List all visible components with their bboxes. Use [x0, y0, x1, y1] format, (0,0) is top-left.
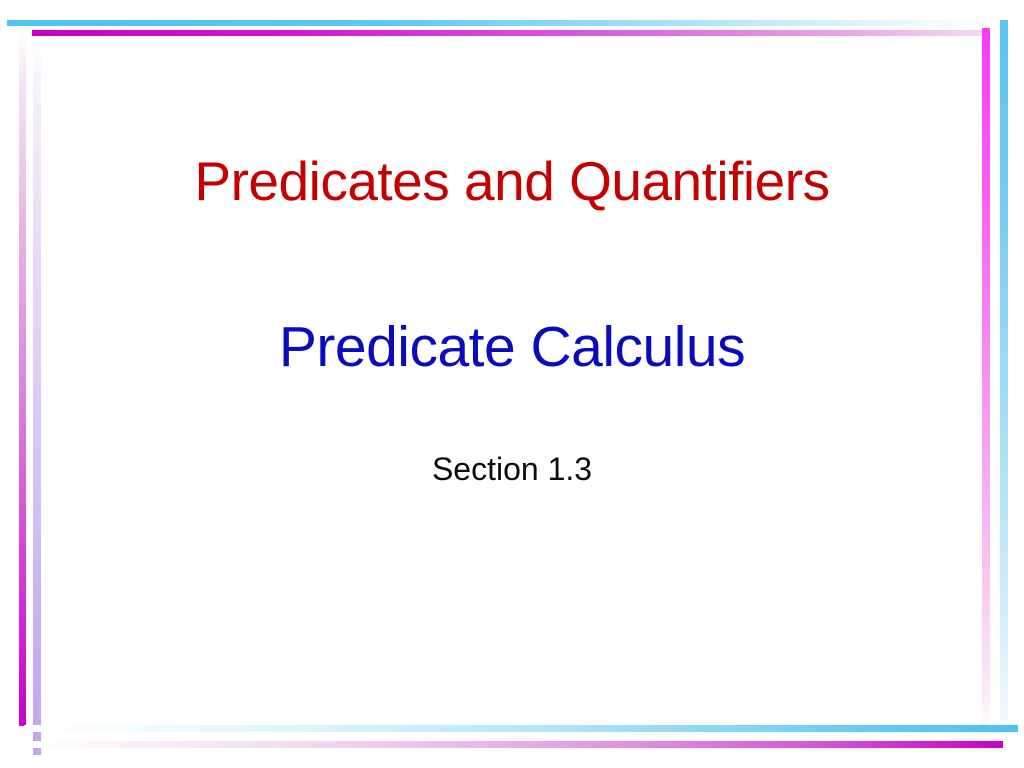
left-lavender-accent-bar: [33, 36, 41, 755]
slide-content-area: Predicates and Quantifiers Predicate Cal…: [50, 40, 974, 720]
section-number-label: Section 1.3: [50, 450, 974, 488]
bottom-cyan-accent-bar: [24, 725, 1018, 732]
slide-subtitle: Predicate Calculus: [50, 315, 974, 379]
left-magenta-accent-bar: [19, 30, 26, 726]
slide-title: Predicates and Quantifiers: [50, 150, 974, 212]
presentation-slide: Predicates and Quantifiers Predicate Cal…: [0, 0, 1024, 768]
right-cyan-accent-bar: [1000, 20, 1008, 755]
right-magenta-accent-bar: [982, 28, 990, 742]
bottom-magenta-accent-bar: [32, 741, 1003, 748]
top-magenta-accent-bar: [32, 30, 990, 36]
top-cyan-accent-bar: [7, 20, 1001, 26]
